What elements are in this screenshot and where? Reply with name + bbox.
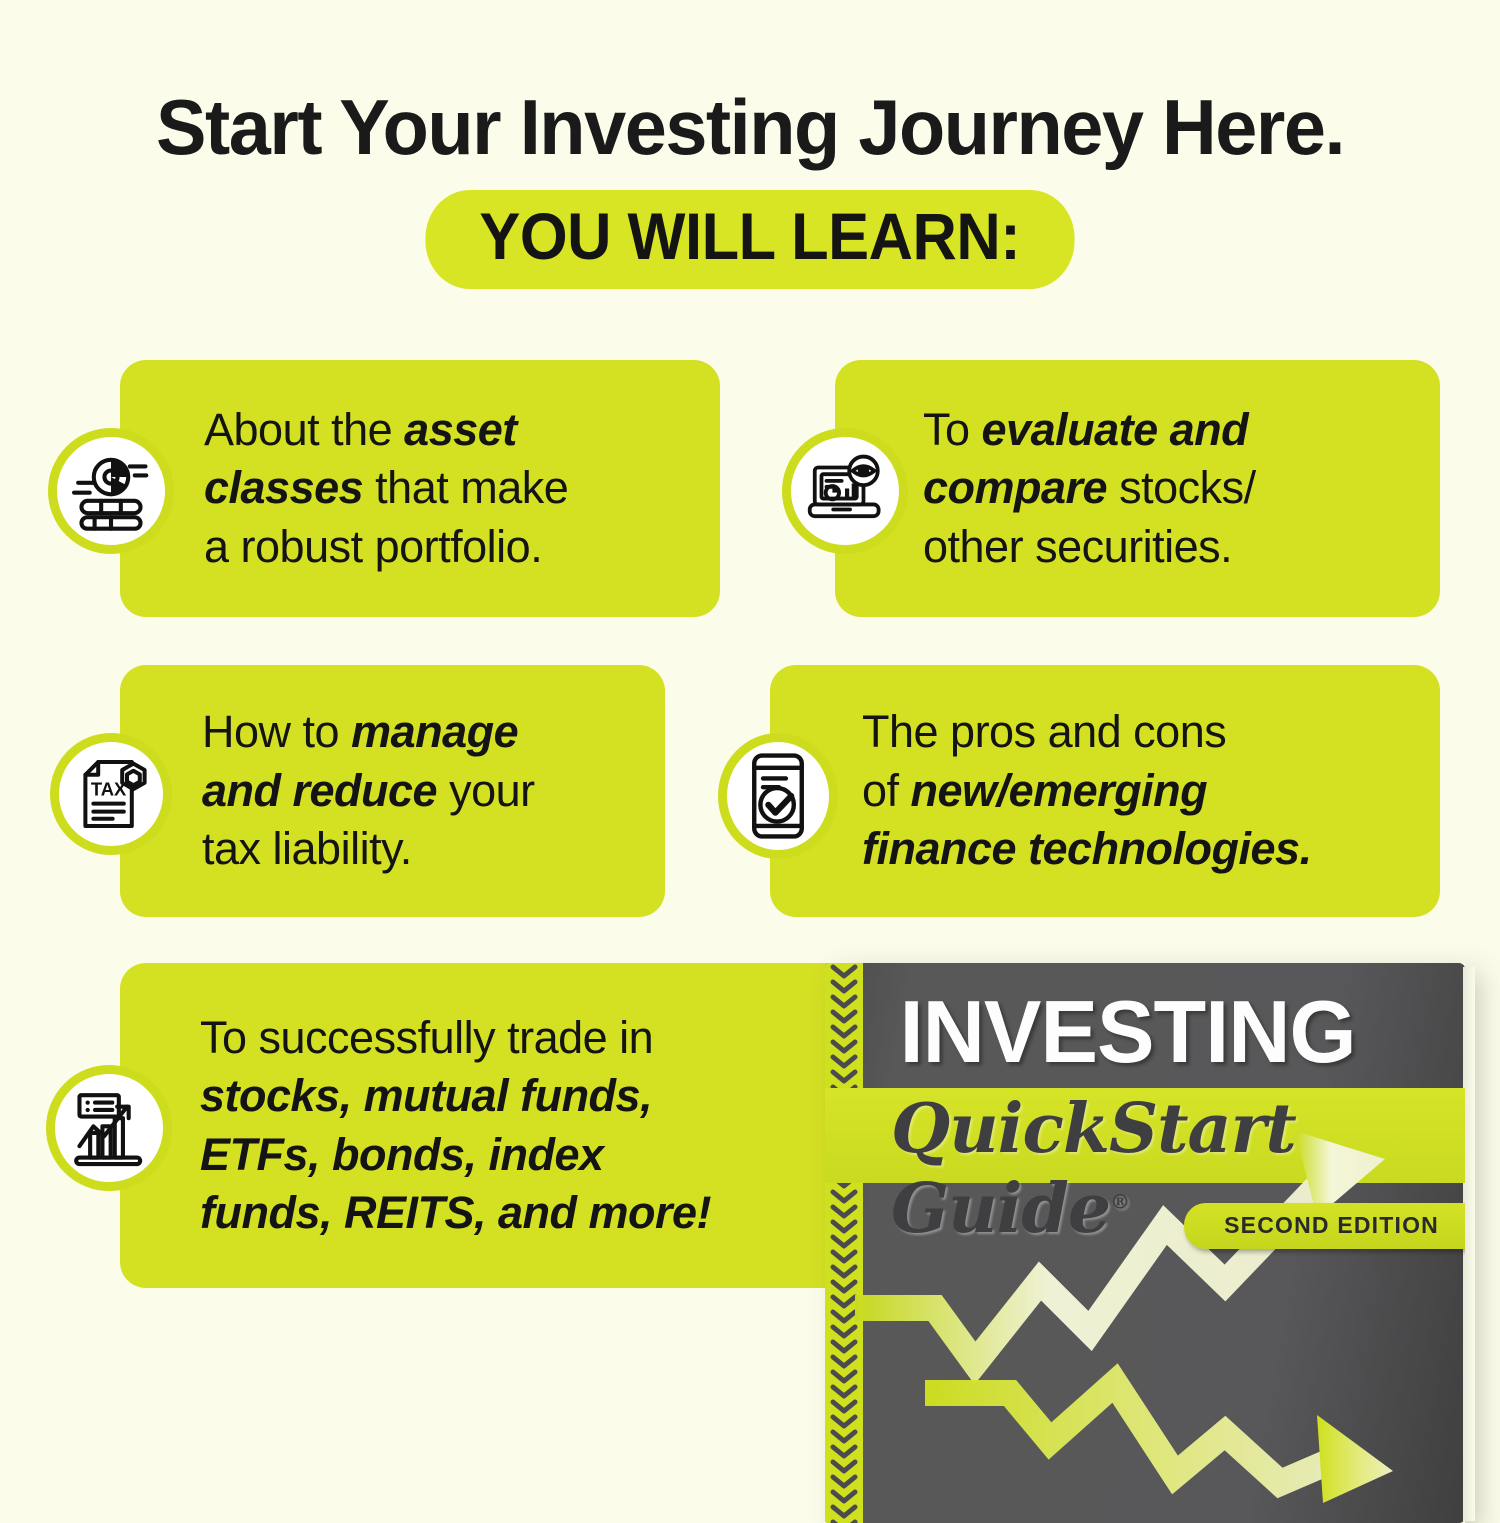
learn-card-trade: To successfully trade instocks, mutual f…	[120, 963, 860, 1288]
card-text: The pros and consof new/emergingfinance …	[862, 703, 1312, 879]
card-text: How to manageand reduce yourtax liabilit…	[202, 703, 535, 879]
book-cover: INVESTING QuickStart Guide® SECOND EDITI…	[825, 963, 1465, 1523]
card-text: To successfully trade instocks, mutual f…	[200, 1009, 711, 1243]
growth-bar-chart-icon	[46, 1065, 172, 1191]
registered-mark: ®	[1110, 1189, 1129, 1213]
pie-chart-coins-icon	[48, 428, 174, 554]
book-body: INVESTING QuickStart Guide® SECOND EDITI…	[825, 963, 1465, 1523]
book-edition-badge: SECOND EDITION	[1184, 1203, 1465, 1249]
card-text: About the assetclasses that makea robust…	[204, 401, 568, 577]
mobile-check-icon	[718, 733, 838, 859]
tax-document-icon: TAX	[50, 733, 172, 855]
book-title: INVESTING	[900, 981, 1356, 1083]
card-text: To evaluate andcompare stocks/other secu…	[923, 401, 1256, 577]
learn-card-asset-classes: About the assetclasses that makea robust…	[120, 360, 720, 617]
header: Start Your Investing Journey Here. YOU W…	[0, 0, 1500, 289]
subhead-container: YOU WILL LEARN:	[0, 190, 1500, 289]
page-title: Start Your Investing Journey Here.	[23, 88, 1478, 166]
laptop-analytics-eye-icon	[782, 428, 908, 554]
subhead-banner: YOU WILL LEARN:	[426, 190, 1075, 289]
learn-card-evaluate-compare: To evaluate andcompare stocks/other secu…	[835, 360, 1440, 617]
learn-card-tax-liability: How to manageand reduce yourtax liabilit…	[120, 665, 665, 917]
learn-card-fintech: The pros and consof new/emergingfinance …	[770, 665, 1440, 917]
